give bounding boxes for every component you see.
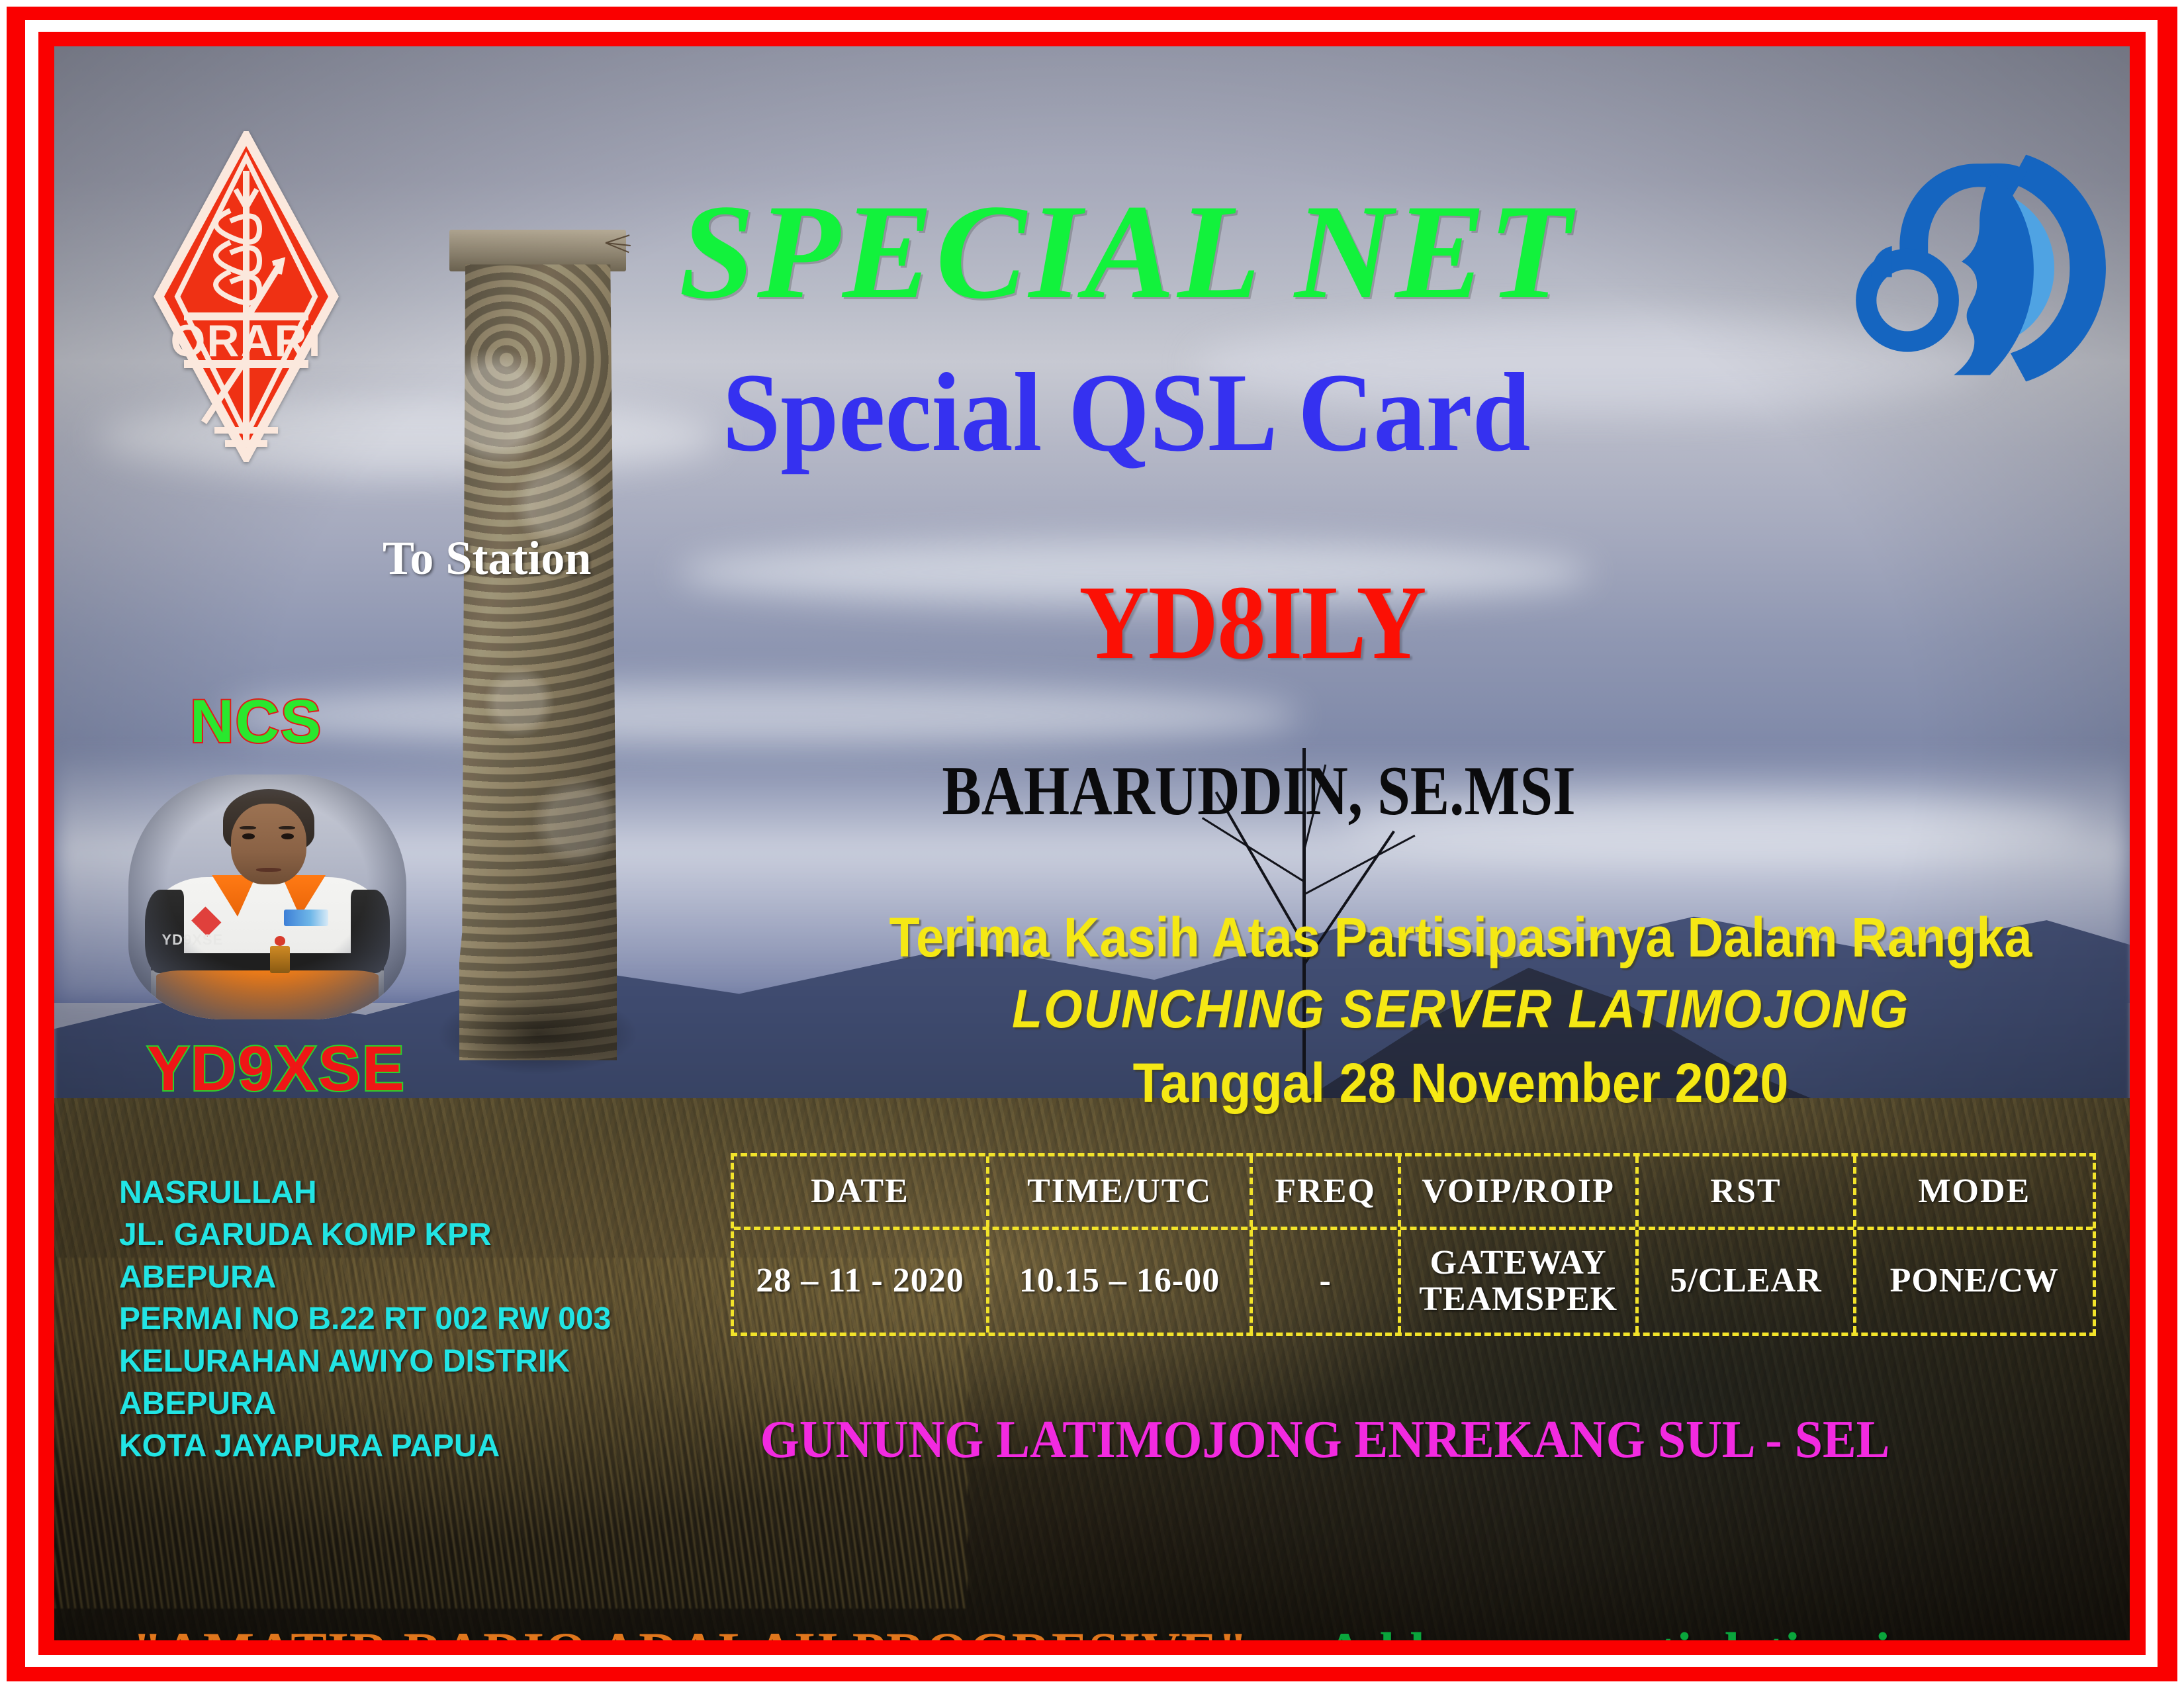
column-header-time: TIME/UTC [989, 1156, 1253, 1227]
station-callsign: YD8ILY [960, 569, 1544, 675]
ncs-operator-photo: YD9XSE [128, 774, 406, 1019]
cell-voip-line2: TEAMSPEK [1419, 1282, 1617, 1318]
address-line: NASRULLAH [119, 1172, 715, 1214]
address-line: ABEPURA [119, 1383, 715, 1425]
address-line: JL. GARUDA KOMP KPR [119, 1214, 715, 1256]
ncs-label: NCS [190, 687, 322, 757]
background-photo: ORARI SPECIAL NET Special QSL Card To St… [54, 46, 2130, 1640]
address-line: KOTA JAYAPURA PAPUA [119, 1425, 715, 1468]
thanks-note: Terima Kasih Atas Partisipasinya Dalam R… [821, 906, 2101, 970]
headset-face-waves-icon [1853, 146, 2111, 391]
photo-edge-fade [128, 774, 406, 1019]
ncs-callsign: YD9XSE [147, 1033, 406, 1105]
column-header-freq: FREQ [1253, 1156, 1401, 1227]
cell-rst: 5/CLEAR [1639, 1230, 1856, 1333]
event-date: Tanggal 28 November 2020 [806, 1051, 2115, 1115]
cell-time: 10.15 – 16-00 [989, 1230, 1253, 1333]
cell-mode: PONE/CW [1856, 1230, 2093, 1333]
cell-voip: GATEWAY TEAMSPEK [1401, 1230, 1639, 1333]
event-note: LOUNCHING SERVER LATIMOJONG [806, 978, 2115, 1041]
cell-freq: - [1253, 1230, 1401, 1333]
page-title: SPECIAL NET [478, 184, 1775, 320]
svg-text:ORARI: ORARI [170, 316, 322, 366]
table-row: 28 – 11 - 2020 10.15 – 16-00 - GATEWAY T… [734, 1227, 2093, 1333]
location-line: GUNUNG LATIMOJONG ENREKANG SUL - SEL [741, 1410, 1910, 1470]
qso-table: DATE TIME/UTC FREQ VOIP/ROIP RST MODE 28… [731, 1153, 2096, 1336]
column-header-rst: RST [1639, 1156, 1856, 1227]
column-header-mode: MODE [1856, 1156, 2093, 1227]
web-address: Address : amatir.latimojong.com [1325, 1620, 2085, 1640]
station-address-block: NASRULLAH JL. GARUDA KOMP KPR ABEPURA PE… [119, 1172, 715, 1468]
table-header-row: DATE TIME/UTC FREQ VOIP/ROIP RST MODE [734, 1156, 2093, 1227]
to-station-label: To Station [383, 531, 591, 586]
address-line: ABEPURA [119, 1256, 715, 1299]
qsl-card: ORARI SPECIAL NET Special QSL Card To St… [0, 0, 2184, 1688]
cell-voip-line1: GATEWAY [1419, 1245, 1617, 1282]
address-line: PERMAI NO B.22 RT 002 RW 003 [119, 1298, 715, 1340]
address-line: KELURAHAN AWIYO DISTRIK [119, 1340, 715, 1383]
page-subtitle: Special QSL Card [523, 356, 1730, 469]
column-header-voip: VOIP/ROIP [1401, 1156, 1639, 1227]
motto-text: "AMATIR RADIO ADALAH PROGRESIVE" [132, 1620, 1249, 1640]
column-header-date: DATE [734, 1156, 989, 1227]
cell-date: 28 – 11 - 2020 [734, 1230, 989, 1333]
operator-name: BAHARUDDIN, SE.MSI [870, 756, 1648, 826]
orari-logo: ORARI [154, 131, 339, 462]
